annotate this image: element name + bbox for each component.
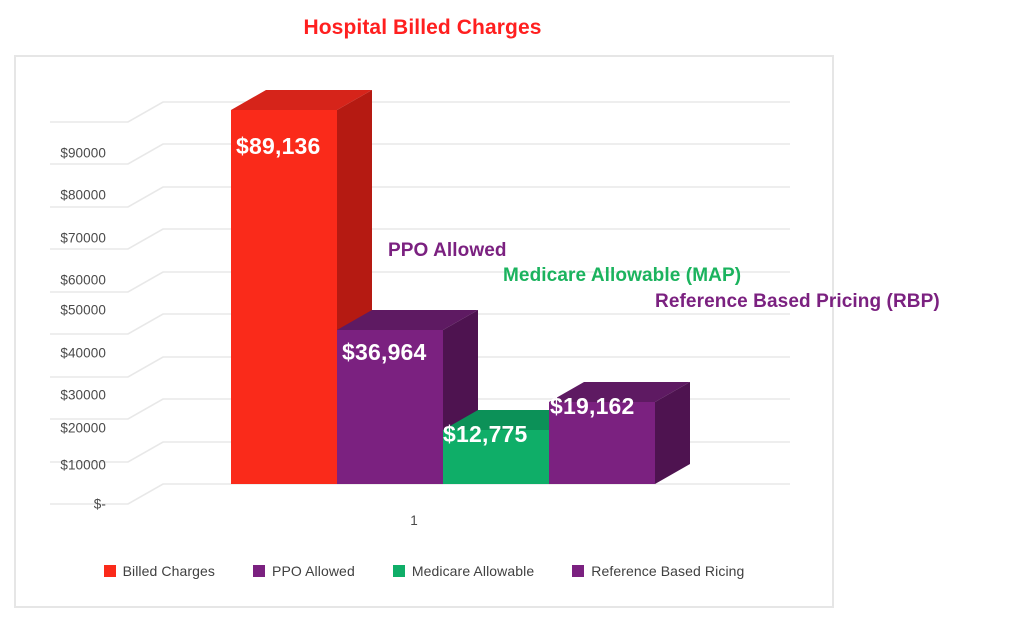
legend-item-ppo-allowed[interactable]: PPO Allowed — [253, 563, 355, 579]
annotation-medicare-allowable: Medicare Allowable (MAP) — [503, 265, 741, 287]
y-tick-label: $60000 — [24, 273, 106, 288]
annotation-ppo-allowed: PPO Allowed — [388, 240, 507, 262]
y-tick-label: $70000 — [24, 231, 106, 246]
y-tick-label: $90000 — [24, 146, 106, 161]
legend-label: Billed Charges — [123, 563, 215, 579]
legend-label: Reference Based Ricing — [591, 563, 744, 579]
legend-item-reference-based-ricing[interactable]: Reference Based Ricing — [572, 563, 744, 579]
y-tick-label: $10000 — [24, 458, 106, 473]
annotation-reference-based-pricing: Reference Based Pricing (RBP) — [655, 291, 940, 313]
legend-swatch-icon — [393, 565, 405, 577]
bar-front-face — [231, 110, 337, 484]
chart-container: Hospital Billed Charges — [0, 0, 1024, 623]
chart-legend: Billed Charges PPO Allowed Medicare Allo… — [14, 563, 834, 579]
legend-swatch-icon — [572, 565, 584, 577]
bar-value-reference-based-pricing: $19,162 — [550, 393, 635, 420]
y-tick-label: $80000 — [24, 188, 106, 203]
legend-label: Medicare Allowable — [412, 563, 534, 579]
legend-label: PPO Allowed — [272, 563, 355, 579]
y-tick-label: $20000 — [24, 421, 106, 436]
legend-swatch-icon — [253, 565, 265, 577]
bar-value-medicare-allowable: $12,775 — [443, 421, 528, 448]
bar-value-ppo-allowed: $36,964 — [342, 339, 427, 366]
bar-value-billed-charges: $89,136 — [236, 133, 321, 160]
x-tick-label: 1 — [410, 513, 418, 528]
legend-item-billed-charges[interactable]: Billed Charges — [104, 563, 215, 579]
y-tick-label: $30000 — [24, 388, 106, 403]
y-tick-label: $- — [24, 497, 106, 512]
legend-swatch-icon — [104, 565, 116, 577]
y-tick-label: $50000 — [24, 303, 106, 318]
y-tick-label: $40000 — [24, 346, 106, 361]
legend-item-medicare-allowable[interactable]: Medicare Allowable — [393, 563, 534, 579]
